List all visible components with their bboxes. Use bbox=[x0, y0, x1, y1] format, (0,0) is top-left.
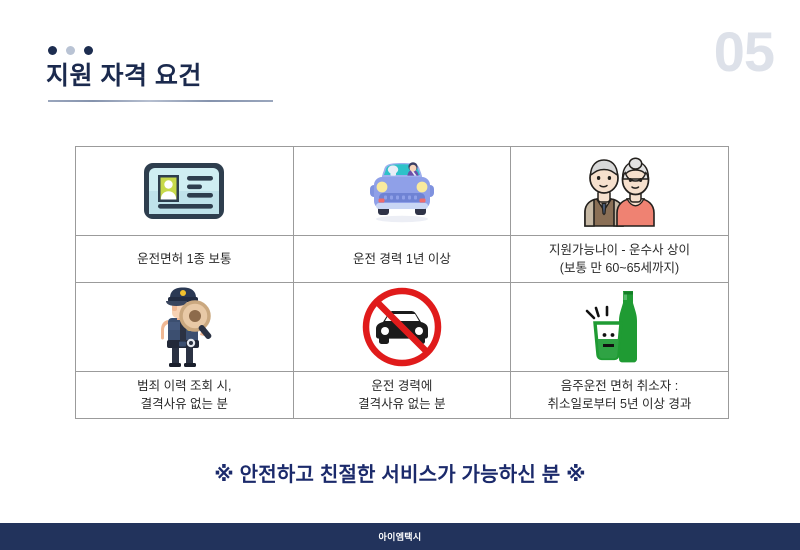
cell-label-driving-record: 운전 경력에 결격사유 없는 분 bbox=[293, 372, 511, 419]
table-row: 운전면허 1종 보통 운전 경력 1년 이상 지원가능나이 - 운수사 상이 (… bbox=[76, 236, 729, 283]
cell-icon-id-card bbox=[76, 147, 294, 236]
cell-label-experience: 운전 경력 1년 이상 bbox=[293, 236, 511, 283]
cell-label-age: 지원가능나이 - 운수사 상이 (보통 만 60~65세까지) bbox=[511, 236, 729, 283]
cell-icon-car bbox=[293, 147, 511, 236]
elderly-couple-icon bbox=[511, 147, 728, 235]
cell-icon-no-car bbox=[293, 283, 511, 372]
table-row: 범죄 이력 조회 시, 결격사유 없는 분 운전 경력에 결격사유 없는 분 음… bbox=[76, 372, 729, 419]
police-officer-icon bbox=[76, 283, 293, 371]
dot-gray-icon bbox=[66, 46, 75, 55]
title-dots bbox=[48, 46, 93, 55]
no-car-prohibition-icon bbox=[294, 283, 511, 371]
table-row bbox=[76, 147, 729, 236]
cell-icon-elderly-couple bbox=[511, 147, 729, 236]
cell-label-text: 운전 경력 1년 이상 bbox=[294, 247, 511, 271]
bottom-bar-label: 아이엠택시 bbox=[379, 530, 422, 543]
page-title: 지원 자격 요건 bbox=[46, 61, 202, 91]
requirements-table: 운전면허 1종 보통 운전 경력 1년 이상 지원가능나이 - 운수사 상이 (… bbox=[75, 146, 729, 419]
slide-root: 지원 자격 요건 05 bbox=[0, 0, 800, 550]
cell-label-criminal-record: 범죄 이력 조회 시, 결격사유 없는 분 bbox=[76, 372, 294, 419]
cell-label-text: 운전면허 1종 보통 bbox=[76, 247, 293, 271]
footnote-text: ※ 안전하고 친절한 서비스가 가능하신 분 ※ bbox=[0, 458, 800, 487]
cell-icon-police bbox=[76, 283, 294, 372]
table-row bbox=[76, 283, 729, 372]
bottom-bar: 아이엠택시 bbox=[0, 523, 800, 550]
cell-label-license: 운전면허 1종 보통 bbox=[76, 236, 294, 283]
alcohol-bottle-glass-icon bbox=[511, 283, 728, 371]
dot-navy-icon bbox=[48, 46, 57, 55]
cell-label-text: 운전 경력에 결격사유 없는 분 bbox=[294, 374, 511, 416]
slide-number: 05 bbox=[714, 24, 774, 80]
title-underline bbox=[48, 100, 273, 102]
car-front-icon bbox=[294, 147, 511, 235]
cell-label-text: 음주운전 면허 취소자 : 취소일로부터 5년 이상 경과 bbox=[511, 374, 728, 416]
cell-label-text: 지원가능나이 - 운수사 상이 (보통 만 60~65세까지) bbox=[511, 238, 728, 280]
dot-navy-icon bbox=[84, 46, 93, 55]
cell-label-text: 범죄 이력 조회 시, 결격사유 없는 분 bbox=[76, 374, 293, 416]
cell-label-dui: 음주운전 면허 취소자 : 취소일로부터 5년 이상 경과 bbox=[511, 372, 729, 419]
cell-icon-alcohol bbox=[511, 283, 729, 372]
id-card-icon bbox=[76, 147, 293, 235]
